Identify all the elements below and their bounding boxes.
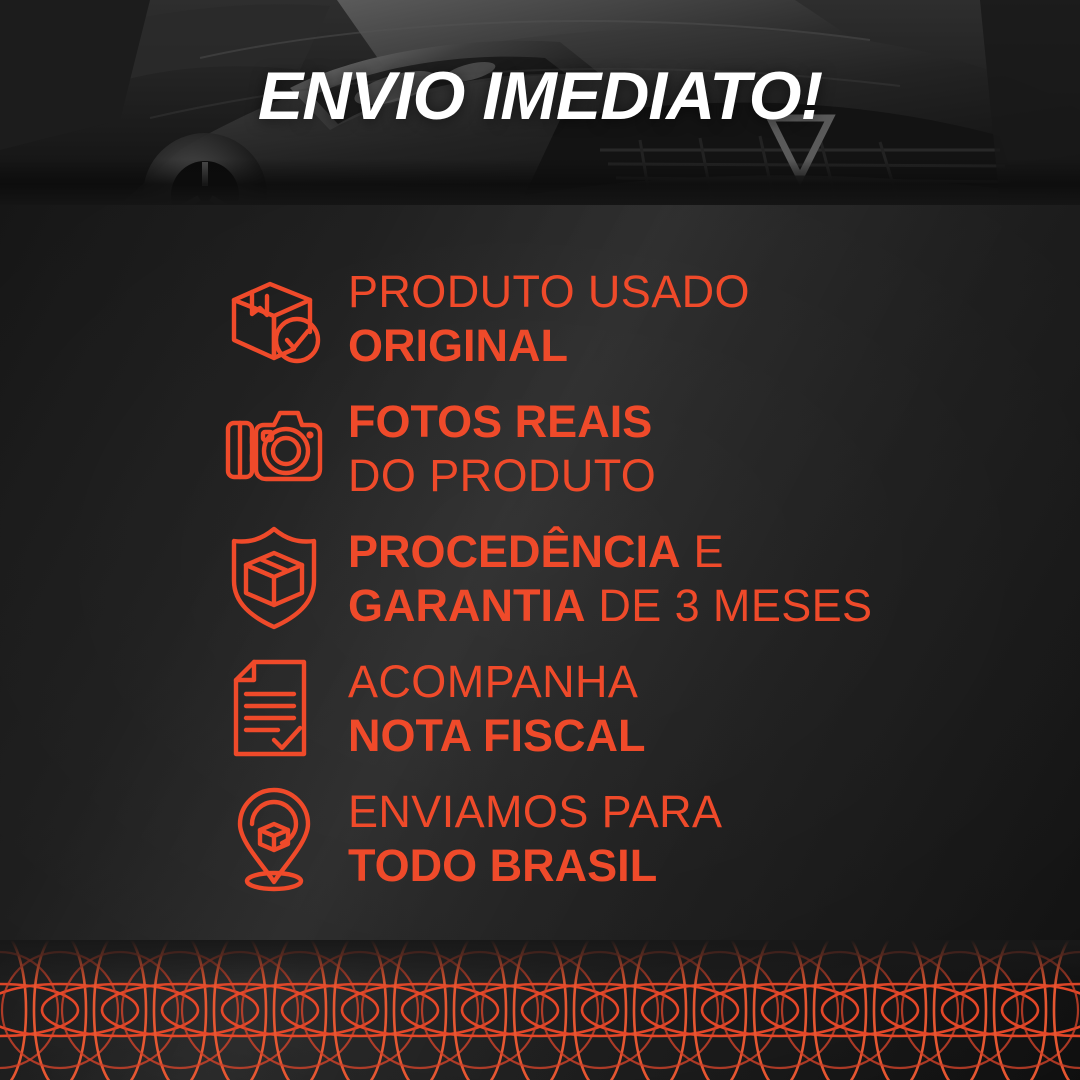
feature-line-2-bold: GARANTIA xyxy=(348,580,585,631)
camera-icon xyxy=(222,403,340,493)
hero-bottom-fade xyxy=(0,159,1080,205)
ornament-band xyxy=(0,940,1080,1080)
feature-line-1: PROCEDÊNCIA E xyxy=(348,529,872,574)
feature-row-fotos-reais: FOTOS REAIS DO PRODUTO xyxy=(222,383,1040,513)
feature-line-1: PRODUTO USADO xyxy=(348,269,750,314)
invoice-check-icon xyxy=(222,658,340,758)
feature-list: PRODUTO USADO ORIGINAL FOTOS REAIS xyxy=(0,205,1080,945)
feature-line-2: ORIGINAL xyxy=(348,323,750,368)
feature-line-1-bold: PROCEDÊNCIA xyxy=(348,526,681,577)
shield-box-icon xyxy=(222,525,340,631)
map-pin-box-icon xyxy=(222,784,340,892)
feature-line-2-light: DE 3 MESES xyxy=(585,580,872,631)
feature-row-procedencia-garantia: PROCEDÊNCIA E GARANTIA DE 3 MESES xyxy=(222,513,1040,643)
feature-line-1: FOTOS REAIS xyxy=(348,399,656,444)
feature-row-produto-usado-original: PRODUTO USADO ORIGINAL xyxy=(222,253,1040,383)
feature-row-nota-fiscal: ACOMPANHA NOTA FISCAL xyxy=(222,643,1040,773)
box-check-icon xyxy=(222,270,340,366)
promo-banner: ENVIO IMEDIATO! PRODUTO USADO ORIGINAL xyxy=(0,0,1080,1080)
feature-line-2: NOTA FISCAL xyxy=(348,713,645,758)
feature-line-1-light: E xyxy=(681,526,724,577)
hero-banner: ENVIO IMEDIATO! xyxy=(0,0,1080,205)
feature-line-1: ENVIAMOS PARA xyxy=(348,789,722,834)
feature-line-2: GARANTIA DE 3 MESES xyxy=(348,583,872,628)
feature-line-2: DO PRODUTO xyxy=(348,453,656,498)
feature-text: ACOMPANHA NOTA FISCAL xyxy=(340,659,645,758)
feature-row-todo-brasil: ENVIAMOS PARA TODO BRASIL xyxy=(222,773,1040,903)
feature-text: PRODUTO USADO ORIGINAL xyxy=(340,269,750,368)
feature-line-1: ACOMPANHA xyxy=(348,659,645,704)
feature-text: PROCEDÊNCIA E GARANTIA DE 3 MESES xyxy=(340,529,872,628)
feature-text: ENVIAMOS PARA TODO BRASIL xyxy=(340,789,722,888)
feature-line-2: TODO BRASIL xyxy=(348,843,722,888)
feature-text: FOTOS REAIS DO PRODUTO xyxy=(340,399,656,498)
page-title: ENVIO IMEDIATO! xyxy=(0,62,1080,130)
